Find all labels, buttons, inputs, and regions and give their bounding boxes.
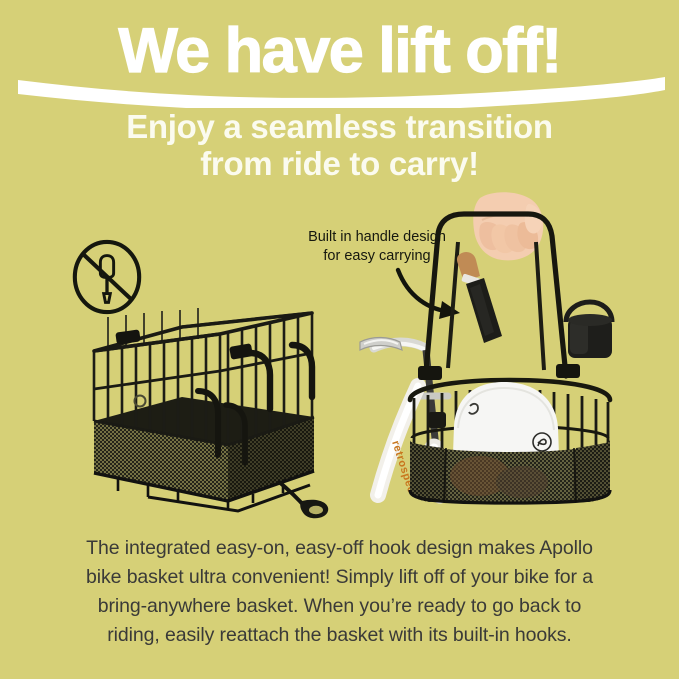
subtitle-line-2: from ride to carry! xyxy=(0,145,679,182)
basket-contents-thermos xyxy=(566,302,612,358)
product-stage: retrospec xyxy=(0,190,679,530)
page-subtitle: Enjoy a seamless transition from ride to… xyxy=(0,108,679,182)
product-photo-basket-detached xyxy=(78,305,338,520)
promo-image: We have lift off! Enjoy a seamless trans… xyxy=(0,0,679,679)
subtitle-line-1: Enjoy a seamless transition xyxy=(126,108,553,145)
body-line-3: bring-anywhere basket. When you’re ready… xyxy=(46,592,633,621)
body-line-1: The integrated easy-on, easy-off hook de… xyxy=(46,534,633,563)
basket-contents-wood-handle-item xyxy=(457,252,502,343)
body-line-2: bike basket ultra convenient! Simply lif… xyxy=(46,563,633,592)
hand-gripping-handle xyxy=(473,192,543,260)
product-photo-basket-lifted: retrospec xyxy=(352,190,652,520)
body-line-4: riding, easily reattach the basket with … xyxy=(46,621,633,650)
body-paragraph: The integrated easy-on, easy-off hook de… xyxy=(46,534,633,650)
page-title: We have lift off! xyxy=(0,20,679,82)
